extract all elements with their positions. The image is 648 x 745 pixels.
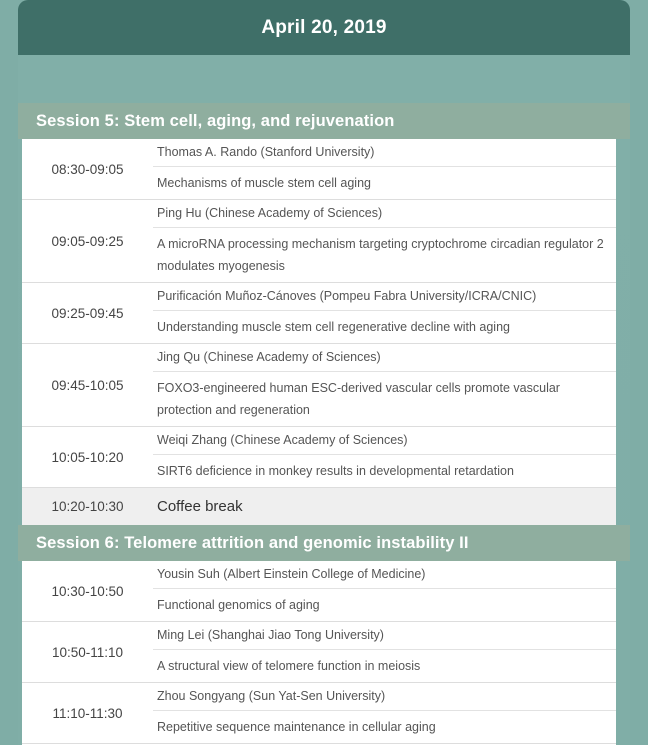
row-speaker: Zhou Songyang (Sun Yat-Sen University) — [153, 683, 616, 711]
row-time: 10:05-10:20 — [22, 427, 153, 487]
session-table-5: 08:30-09:05 Thomas A. Rando (Stanford Un… — [22, 139, 616, 487]
table-row[interactable]: 09:05-09:25 Ping Hu (Chinese Academy of … — [22, 199, 616, 282]
table-row[interactable]: 08:30-09:05 Thomas A. Rando (Stanford Un… — [22, 139, 616, 199]
row-talk: Repetitive sequence maintenance in cellu… — [153, 711, 616, 743]
row-talk: A microRNA processing mechanism targetin… — [153, 228, 616, 282]
row-time: 09:05-09:25 — [22, 200, 153, 282]
schedule-sheet: Session 5: Stem cell, aging, and rejuven… — [18, 55, 630, 745]
row-speaker: Weiqi Zhang (Chinese Academy of Sciences… — [153, 427, 616, 455]
row-speaker: Jing Qu (Chinese Academy of Sciences) — [153, 344, 616, 372]
row-content: Jing Qu (Chinese Academy of Sciences) FO… — [153, 344, 616, 426]
row-speaker: Yousin Suh (Albert Einstein College of M… — [153, 561, 616, 589]
session-header-5: Session 5: Stem cell, aging, and rejuven… — [18, 103, 630, 139]
break-label: Coffee break — [153, 498, 243, 515]
break-row-wrapper: 10:20-10:30 Coffee break — [22, 487, 616, 525]
row-talk: Functional genomics of aging — [153, 589, 616, 621]
row-speaker: Thomas A. Rando (Stanford University) — [153, 139, 616, 167]
row-talk: A structural view of telomere function i… — [153, 650, 616, 682]
table-row[interactable]: 09:25-09:45 Purificación Muñoz-Cánoves (… — [22, 282, 616, 343]
row-talk: Understanding muscle stem cell regenerat… — [153, 311, 616, 343]
row-time: 10:50-11:10 — [22, 622, 153, 682]
row-talk: FOXO3-engineered human ESC-derived vascu… — [153, 372, 616, 426]
row-content: Ping Hu (Chinese Academy of Sciences) A … — [153, 200, 616, 282]
row-content: Yousin Suh (Albert Einstein College of M… — [153, 561, 616, 621]
row-time: 11:10-11:30 — [22, 683, 153, 743]
break-time: 10:20-10:30 — [22, 499, 153, 514]
break-row[interactable]: 10:20-10:30 Coffee break — [22, 487, 616, 525]
table-row[interactable]: 10:50-11:10 Ming Lei (Shanghai Jiao Tong… — [22, 621, 616, 682]
row-time: 08:30-09:05 — [22, 139, 153, 199]
row-speaker: Ping Hu (Chinese Academy of Sciences) — [153, 200, 616, 228]
row-time: 10:30-10:50 — [22, 561, 153, 621]
page-title: April 20, 2019 — [261, 17, 386, 39]
table-row[interactable]: 11:10-11:30 Zhou Songyang (Sun Yat-Sen U… — [22, 682, 616, 743]
row-time: 09:45-10:05 — [22, 344, 153, 426]
schedule-page: April 20, 2019 Session 5: Stem cell, agi… — [0, 0, 648, 745]
row-content: Zhou Songyang (Sun Yat-Sen University) R… — [153, 683, 616, 743]
row-content: Ming Lei (Shanghai Jiao Tong University)… — [153, 622, 616, 682]
table-row[interactable]: 10:30-10:50 Yousin Suh (Albert Einstein … — [22, 561, 616, 621]
row-talk: Mechanisms of muscle stem cell aging — [153, 167, 616, 199]
session-header-6: Session 6: Telomere attrition and genomi… — [18, 525, 630, 561]
row-talk: SIRT6 deficience in monkey results in de… — [153, 455, 616, 487]
table-row[interactable]: 09:45-10:05 Jing Qu (Chinese Academy of … — [22, 343, 616, 426]
sheet-top-spacer — [18, 55, 630, 103]
session-title: Session 5: Stem cell, aging, and rejuven… — [36, 112, 394, 131]
table-row[interactable]: 10:05-10:20 Weiqi Zhang (Chinese Academy… — [22, 426, 616, 487]
row-speaker: Purificación Muñoz-Cánoves (Pompeu Fabra… — [153, 283, 616, 311]
row-content: Thomas A. Rando (Stanford University) Me… — [153, 139, 616, 199]
session-table-6: 10:30-10:50 Yousin Suh (Albert Einstein … — [22, 561, 616, 745]
session-title: Session 6: Telomere attrition and genomi… — [36, 534, 469, 553]
date-banner: April 20, 2019 — [18, 0, 630, 55]
row-content: Weiqi Zhang (Chinese Academy of Sciences… — [153, 427, 616, 487]
row-speaker: Ming Lei (Shanghai Jiao Tong University) — [153, 622, 616, 650]
row-time: 09:25-09:45 — [22, 283, 153, 343]
row-content: Purificación Muñoz-Cánoves (Pompeu Fabra… — [153, 283, 616, 343]
